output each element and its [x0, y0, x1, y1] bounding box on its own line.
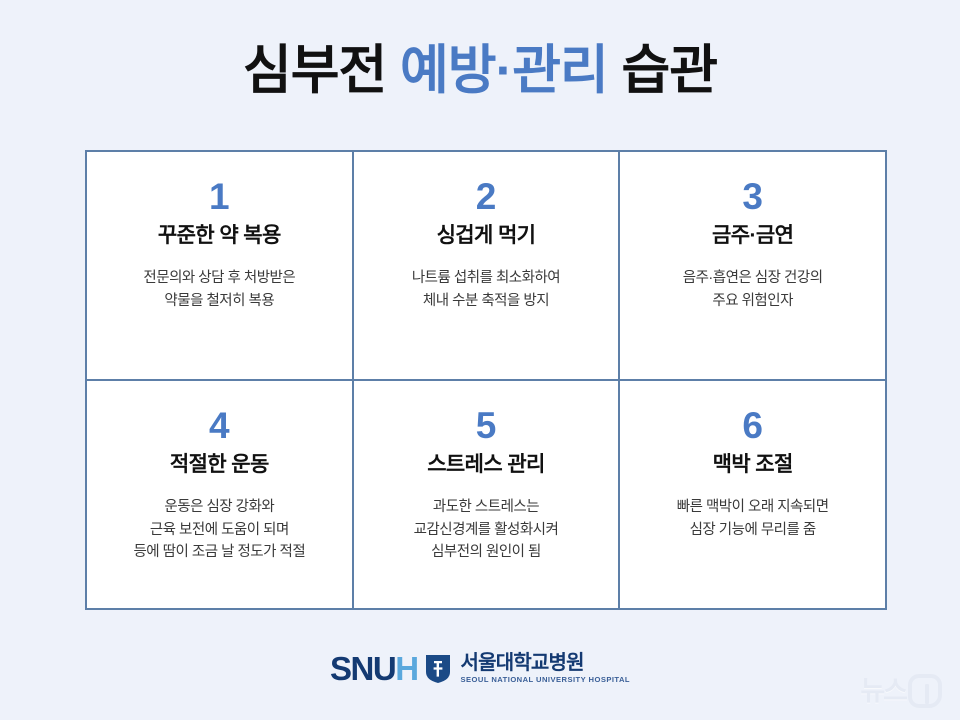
watermark-one-glyph — [908, 674, 942, 708]
hospital-name-block: 서울대학교병원 SEOUL NATIONAL UNIVERSITY HOSPIT… — [461, 652, 630, 684]
title-accent: 예방·관리 — [400, 41, 608, 100]
habit-card-body: 과도한 스트레스는 교감신경계를 활성화시켜 심부전의 원인이 됨 — [414, 496, 559, 563]
news1-watermark: 뉴스 — [860, 674, 942, 708]
habit-card-heading: 적절한 운동 — [170, 452, 269, 478]
hospital-name-kr: 서울대학교병원 — [461, 652, 630, 674]
habit-card-body: 운동은 심장 강화와 근육 보전에 도움이 되며 등에 땀이 조금 날 정도가 … — [133, 496, 305, 563]
habit-card-4: 4 적절한 운동 운동은 심장 강화와 근육 보전에 도움이 되며 등에 땀이 … — [87, 381, 352, 608]
footer: SNUH 서울대학교병원 SEOUL NATIONAL UNIVERSITY H… — [0, 652, 960, 685]
habit-card-number: 2 — [476, 178, 497, 215]
habit-card-body: 나트륨 섭취를 최소화하여 체내 수분 축적을 방지 — [412, 267, 560, 312]
snuh-wordmark: SNUH — [330, 652, 418, 685]
habit-card-number: 1 — [209, 178, 230, 215]
title-part-one: 심부전 — [243, 41, 400, 100]
infographic-poster: 심부전 예방·관리 습관 1 꾸준한 약 복용 전문의와 상담 후 처방받은 약… — [0, 0, 960, 720]
habit-card-number: 3 — [742, 178, 763, 215]
snuh-wordmark-h: H — [395, 650, 417, 687]
snuh-wordmark-snu: SNU — [330, 650, 395, 687]
habit-card-number: 5 — [476, 407, 497, 444]
title-part-two: 습관 — [608, 41, 717, 100]
habit-card-heading: 싱겁게 먹기 — [437, 223, 536, 249]
habits-grid: 1 꾸준한 약 복용 전문의와 상담 후 처방받은 약물을 철저히 복용 2 싱… — [85, 150, 887, 610]
habit-card-heading: 스트레스 관리 — [427, 452, 545, 478]
habit-card-2: 2 싱겁게 먹기 나트륨 섭취를 최소화하여 체내 수분 축적을 방지 — [354, 152, 619, 379]
habit-card-number: 6 — [742, 407, 763, 444]
habit-card-1: 1 꾸준한 약 복용 전문의와 상담 후 처방받은 약물을 철저히 복용 — [87, 152, 352, 379]
title-area: 심부전 예방·관리 습관 — [0, 42, 960, 100]
habit-card-body: 전문의와 상담 후 처방받은 약물을 철저히 복용 — [143, 267, 295, 312]
habit-card-heading: 꾸준한 약 복용 — [158, 223, 281, 249]
habit-card-body: 음주·흡연은 심장 건강의 주요 위험인자 — [683, 267, 823, 312]
snuh-logo: SNUH 서울대학교병원 SEOUL NATIONAL UNIVERSITY H… — [330, 652, 630, 685]
habit-card-5: 5 스트레스 관리 과도한 스트레스는 교감신경계를 활성화시켜 심부전의 원인… — [354, 381, 619, 608]
habit-card-heading: 금주·금연 — [712, 223, 793, 249]
page-title: 심부전 예방·관리 습관 — [0, 42, 960, 100]
habit-card-3: 3 금주·금연 음주·흡연은 심장 건강의 주요 위험인자 — [620, 152, 885, 379]
habit-card-number: 4 — [209, 407, 230, 444]
shield-icon — [425, 654, 451, 684]
watermark-text: 뉴스 — [860, 678, 906, 705]
habit-card-6: 6 맥박 조절 빠른 맥박이 오래 지속되면 심장 기능에 무리를 줌 — [620, 381, 885, 608]
habit-card-body: 빠른 맥박이 오래 지속되면 심장 기능에 무리를 줌 — [677, 496, 829, 541]
hospital-name-en: SEOUL NATIONAL UNIVERSITY HOSPITAL — [461, 676, 630, 684]
habit-card-heading: 맥박 조절 — [713, 452, 793, 478]
